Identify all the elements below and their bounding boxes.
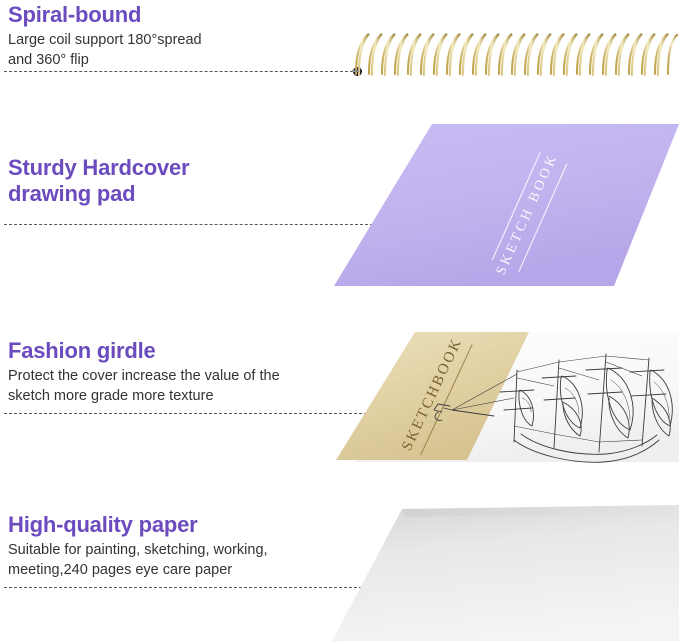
infographic-page: Spiral-bound Large coil support 180°spre… <box>0 0 679 641</box>
feature-block-high-quality-paper: High-quality paper Suitable for painting… <box>8 512 368 580</box>
feature-block-fashion-girdle: Fashion girdle Protect the cover increas… <box>8 338 368 406</box>
feature-body-spiral-bound: Large coil support 180°spread and 360° f… <box>8 30 368 70</box>
coil-loops <box>356 34 677 75</box>
feature-body-fashion-girdle: Protect the cover increase the value of … <box>8 366 368 406</box>
feature-body-high-quality-paper: Suitable for painting, sketching, workin… <box>8 540 368 580</box>
feature-heading-fashion-girdle: Fashion girdle <box>8 338 368 364</box>
connector-line-spiral-bound <box>4 71 358 74</box>
purple-hardcover-svg: SKETCH BOOK <box>318 110 679 300</box>
connector-line-fashion-girdle <box>4 413 372 416</box>
paper-stack-image <box>318 495 679 641</box>
paper-stack-svg <box>318 495 679 641</box>
feature-block-sturdy-hardcover: Sturdy Hardcover drawing pad <box>8 155 368 209</box>
purple-hardcover-image: SKETCH BOOK <box>318 110 679 300</box>
spiral-coil-svg <box>352 28 679 84</box>
feature-heading-high-quality-paper: High-quality paper <box>8 512 368 538</box>
connector-line-high-quality-paper <box>4 587 372 590</box>
spiral-coil-image <box>352 28 679 84</box>
girdle-band-svg: SKETCHBOOK <box>318 330 679 480</box>
girdle-band-image: SKETCHBOOK <box>318 330 679 480</box>
feature-block-spiral-bound: Spiral-bound Large coil support 180°spre… <box>8 2 368 70</box>
paper-sheet <box>332 505 679 641</box>
feature-heading-spiral-bound: Spiral-bound <box>8 2 368 28</box>
feature-heading-sturdy-hardcover: Sturdy Hardcover drawing pad <box>8 155 368 207</box>
